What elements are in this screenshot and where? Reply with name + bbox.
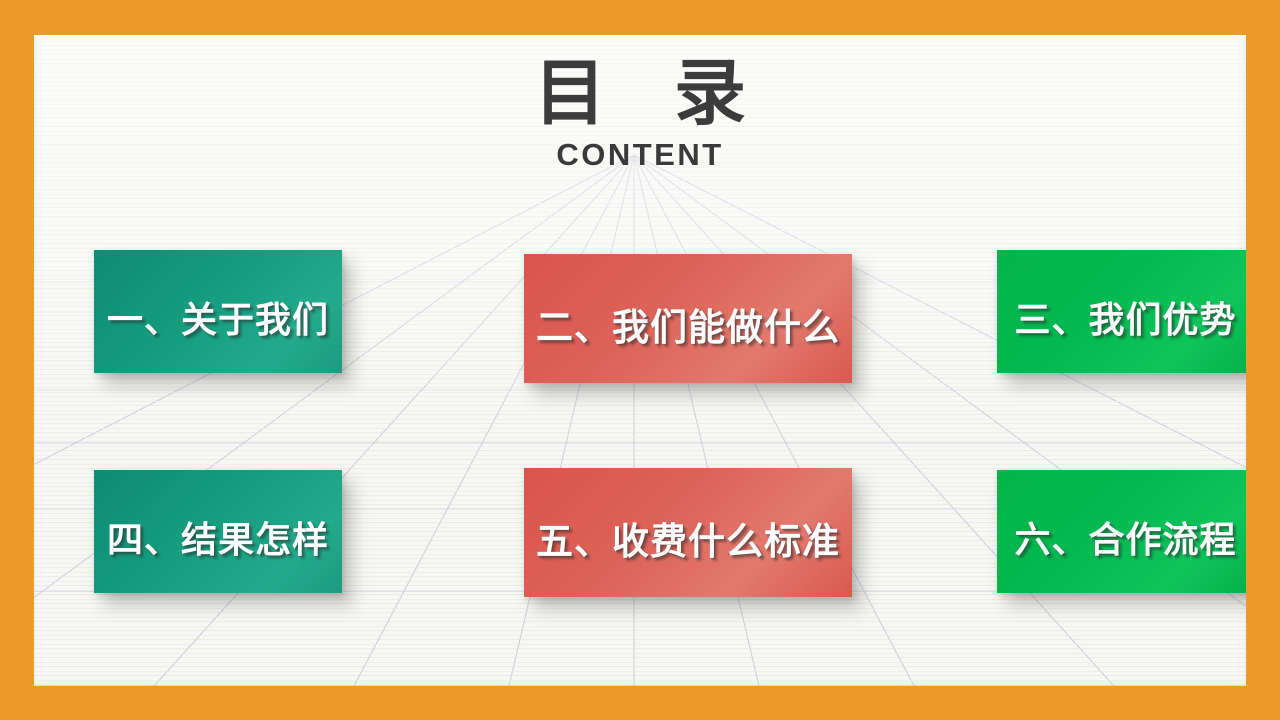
page-subtitle: CONTENT xyxy=(34,139,1246,170)
content-tile-5[interactable]: 五、收费什么标准 xyxy=(524,468,852,597)
content-tile-2[interactable]: 二、我们能做什么 xyxy=(524,254,852,383)
presentation-slide: 目 录 CONTENT 一、关于我们 二、我们能做什么 三、我们优势 四、结果怎… xyxy=(0,0,1280,720)
slide-content-area: 目 录 CONTENT 一、关于我们 二、我们能做什么 三、我们优势 四、结果怎… xyxy=(34,35,1246,686)
page-title: 目 录 xyxy=(34,57,1246,133)
tile-label: 五、收费什么标准 xyxy=(536,511,840,565)
tile-label: 三、我们优势 xyxy=(1014,291,1236,343)
tile-label: 二、我们能做什么 xyxy=(536,297,840,351)
content-tile-4[interactable]: 四、结果怎样 xyxy=(94,470,342,593)
slide-title-block: 目 录 CONTENT xyxy=(34,57,1246,170)
tile-label: 四、结果怎样 xyxy=(107,511,329,563)
content-tile-3[interactable]: 三、我们优势 xyxy=(997,250,1246,373)
tile-label: 六、合作流程 xyxy=(1014,511,1236,563)
content-tile-6[interactable]: 六、合作流程 xyxy=(997,470,1246,593)
tile-label: 一、关于我们 xyxy=(107,291,329,343)
content-tile-1[interactable]: 一、关于我们 xyxy=(94,250,342,373)
